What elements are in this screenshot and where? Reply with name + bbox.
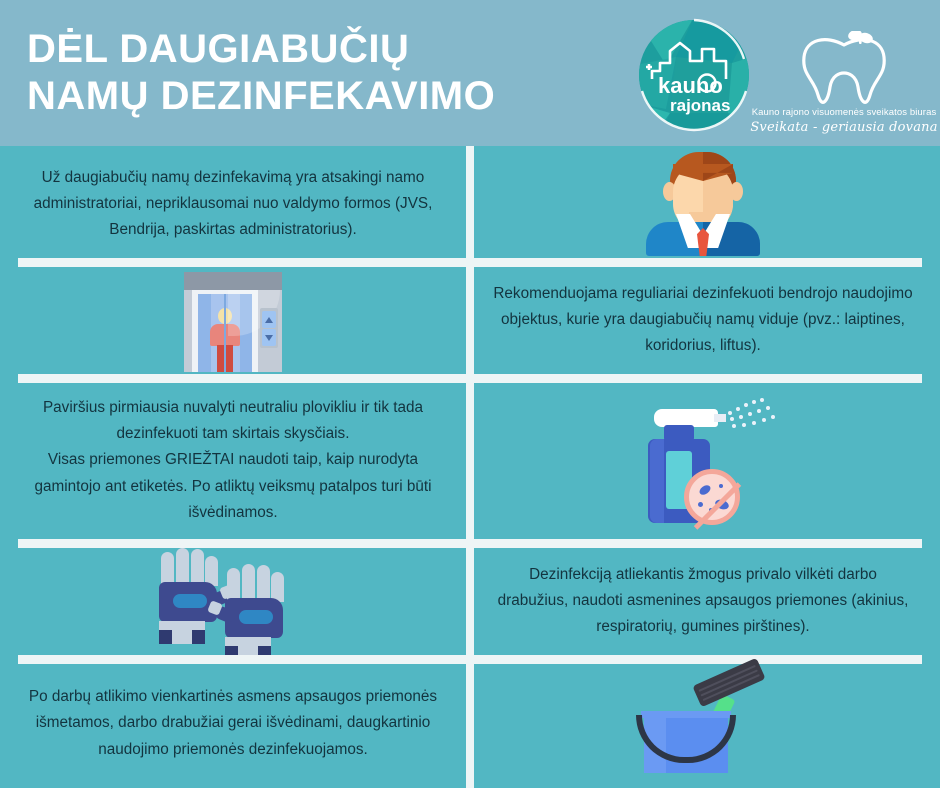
page-title: DĖL DAUGIABUČIŲ NAMŲ DEZINFEKAVIMO	[27, 26, 495, 120]
row-4-text: Dezinfekciją atliekantis žmogus privalo …	[466, 562, 940, 641]
row-1-text-cell: Už daugiabučių namų dezinfekavimą yra at…	[0, 146, 466, 262]
header-logos: kauno rajonas Kauno rajono visuomenės sv…	[632, 12, 932, 138]
logo-word-rajonas: rajonas	[670, 96, 730, 115]
infographic-poster: DĖL DAUGIABUČIŲ NAMŲ DEZINFEKAVIMO	[0, 0, 940, 788]
row-2-icon-cell	[0, 262, 466, 378]
glove-left-grip-pad	[173, 594, 207, 608]
row-4-text-cell: Dezinfekciją atliekantis žmogus privalo …	[466, 543, 940, 659]
elevator-door-seam	[224, 294, 226, 372]
no-germs-badge	[684, 469, 740, 525]
table-row: Po darbų atlikimo vienkartinės asmens ap…	[0, 659, 940, 788]
glove-left-cuff-block	[192, 630, 205, 644]
bucket-mop-icon	[628, 669, 778, 779]
chevron-down-icon	[265, 335, 273, 341]
glove-left-cuff-block	[159, 630, 172, 644]
spray-trigger-head	[654, 409, 718, 427]
table-row: Dezinfekciją atliekantis žmogus privalo …	[0, 543, 940, 659]
row-1-icon-cell	[466, 146, 940, 262]
chevron-up-icon	[265, 317, 273, 323]
row-5-text: Po darbų atlikimo vienkartinės asmens ap…	[0, 684, 466, 763]
row-3-icon-cell	[466, 378, 940, 543]
row-5-text-cell: Po darbų atlikimo vienkartinės asmens ap…	[0, 659, 466, 788]
row-2-text-cell: Rekomenduojama reguliariai dezinfekuoti …	[466, 262, 940, 378]
row-3-text-cell: Paviršius pirmiausia nuvalyti neutraliu …	[0, 378, 466, 543]
spray-mist	[726, 397, 778, 437]
table-row: Už daugiabučių namų dezinfekavimą yra at…	[0, 146, 940, 262]
elevator-icon	[168, 268, 298, 372]
tooth-butterfly-icon	[756, 31, 932, 107]
glove-right	[217, 564, 295, 659]
glove-right-grip-pad	[239, 610, 273, 624]
row-4-icon-cell	[0, 543, 466, 659]
table-row: Rekomenduojama reguliariai dezinfekuoti …	[0, 262, 940, 378]
elevator-up-button[interactable]	[262, 311, 276, 328]
biuras-name: Kauno rajono visuomenės sveikatos biuras	[752, 107, 937, 118]
content-grid: Už daugiabučių namų dezinfekavimą yra at…	[0, 146, 940, 788]
biuras-slogan: Sveikata - geriausia dovana	[750, 120, 937, 135]
row-1-text: Už daugiabučių namų dezinfekavimą yra at…	[0, 165, 466, 244]
kauno-rajonas-logo: kauno rajonas	[636, 17, 752, 133]
spray-bottle-no-germs-icon	[628, 395, 778, 527]
row-3-text: Paviršius pirmiausia nuvalyti neutraliu …	[0, 395, 466, 526]
protective-gloves-icon	[151, 548, 316, 654]
elevator-header-bar	[184, 272, 282, 290]
sveikatos-biuras-logo: Kauno rajono visuomenės sveikatos biuras…	[756, 15, 932, 135]
spray-bottle-highlight	[650, 439, 664, 523]
administrator-person-icon	[628, 152, 778, 256]
elevator-down-button[interactable]	[262, 329, 276, 346]
poster-header: DĖL DAUGIABUČIŲ NAMŲ DEZINFEKAVIMO	[0, 0, 940, 146]
row-2-text: Rekomenduojama reguliariai dezinfekuoti …	[466, 281, 940, 360]
table-row: Paviršius pirmiausia nuvalyti neutraliu …	[0, 378, 940, 543]
spray-nozzle	[714, 414, 726, 422]
row-5-icon-cell	[466, 659, 940, 788]
